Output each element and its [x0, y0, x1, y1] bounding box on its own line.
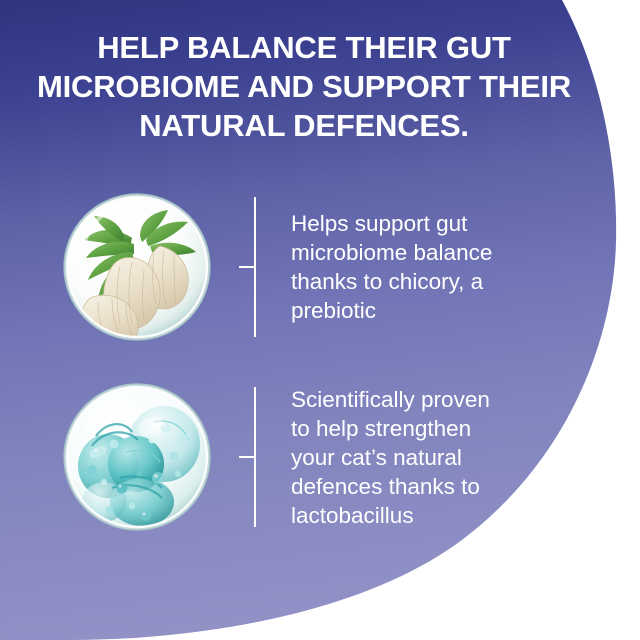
lactobacillus-petri-dish-image [62, 382, 212, 532]
page-title: HELP BALANCE THEIR GUT MICROBIOME AND SU… [36, 28, 572, 145]
divider-tick [239, 456, 255, 458]
promo-poster: HELP BALANCE THEIR GUT MICROBIOME AND SU… [0, 0, 640, 640]
feature-text: Scientifically proven to help strengthen… [291, 385, 490, 530]
feature-text: Helps support gut microbiome balance tha… [291, 209, 492, 325]
feature-row: Helps support gut microbiome balance tha… [62, 192, 492, 342]
divider-tick [239, 266, 255, 268]
feature-row: Scientifically proven to help strengthen… [62, 382, 490, 532]
feature-divider [239, 387, 269, 527]
feature-divider [239, 197, 269, 337]
chicory-petri-dish-image [62, 192, 212, 342]
